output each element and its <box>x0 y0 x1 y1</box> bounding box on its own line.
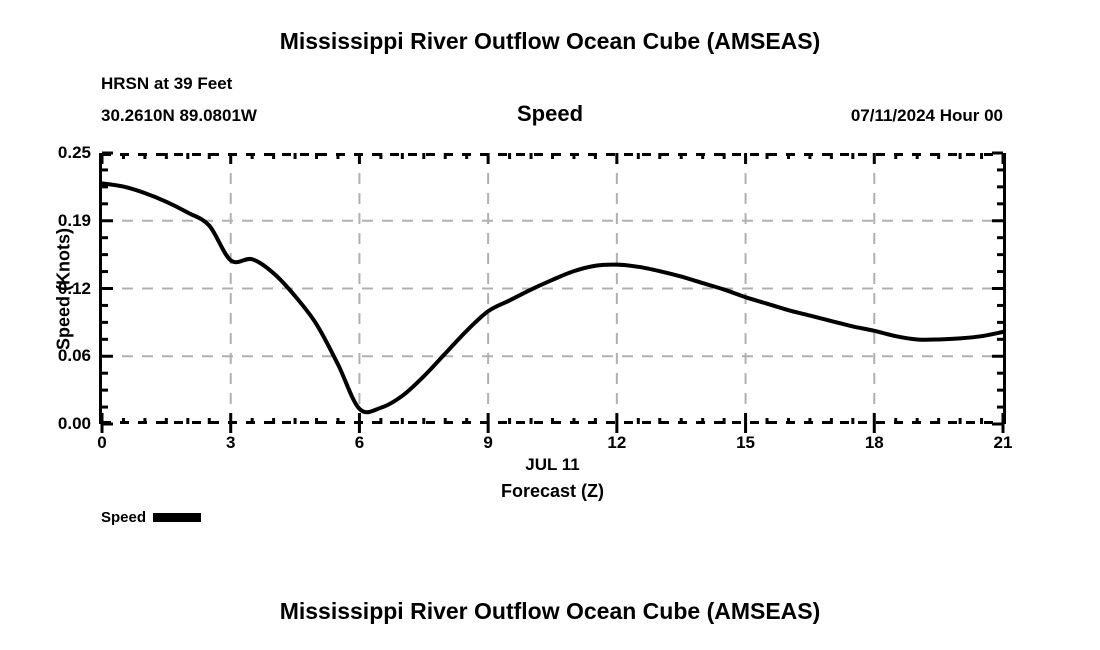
station-depth-label: HRSN at 39 Feet <box>101 74 232 94</box>
x-tick-label: 21 <box>994 433 1013 453</box>
x-tick-label: 18 <box>865 433 884 453</box>
y-tick-label: 0.12 <box>58 279 91 299</box>
data-series <box>102 183 1003 412</box>
page-title-bottom: Mississippi River Outflow Ocean Cube (AM… <box>0 598 1100 625</box>
x-tick-label: 9 <box>483 433 492 453</box>
axis-ticks <box>102 153 1003 433</box>
y-tick-label: 0.06 <box>58 346 91 366</box>
x-tick-label: 6 <box>355 433 364 453</box>
y-tick-label: 0.19 <box>58 211 91 231</box>
legend-label: Speed <box>101 509 146 526</box>
forecast-datetime-label: 07/11/2024 Hour 00 <box>851 106 1003 126</box>
y-tick-label: 0.25 <box>58 143 91 163</box>
chart-page: Mississippi River Outflow Ocean Cube (AM… <box>0 0 1100 650</box>
x-tick-label: 15 <box>736 433 755 453</box>
y-tick-label: 0.00 <box>58 414 91 434</box>
x-tick-label: 12 <box>607 433 626 453</box>
chart-canvas <box>102 153 1003 424</box>
x-tick-label: 3 <box>226 433 235 453</box>
page-title-top: Mississippi River Outflow Ocean Cube (AM… <box>0 28 1100 55</box>
x-tick-label: 0 <box>97 433 106 453</box>
grid-lines <box>102 153 1003 424</box>
chart-legend: Speed <box>101 509 201 526</box>
x-axis-title: Forecast (Z) <box>102 481 1003 502</box>
legend-line-swatch <box>153 513 201 522</box>
plot-area: Speed (Knots) 0.000.060.120.190.25 03691… <box>99 153 1006 424</box>
x-axis-day-label: JUL 11 <box>102 455 1003 475</box>
